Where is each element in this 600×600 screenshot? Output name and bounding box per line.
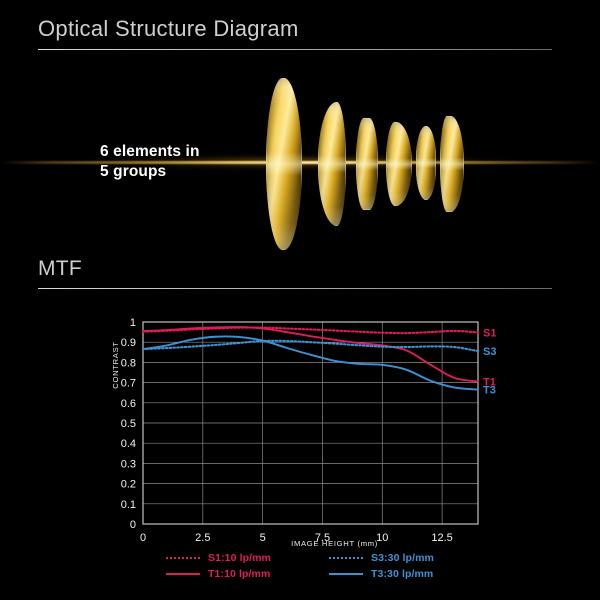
- legend-column-10lpmm: S1:10 lp/mm T1:10 lp/mm: [166, 552, 271, 580]
- y-tick-label: 0.8: [121, 357, 136, 369]
- legend-column-30lpmm: S3:30 lp/mm T3:30 lp/mm: [329, 552, 434, 580]
- curve-end-label-s3: S3: [483, 346, 496, 358]
- page-root: Optical Structure Diagram 6 elements in …: [0, 0, 600, 600]
- y-tick-label: 0.4: [121, 438, 136, 450]
- legend-item-t1: T1:10 lp/mm: [166, 568, 271, 580]
- lens-element-2: [318, 102, 346, 226]
- mtf-divider: [38, 288, 552, 289]
- legend-item-t3: T3:30 lp/mm: [329, 568, 434, 580]
- page-title: Optical Structure Diagram: [38, 18, 552, 40]
- legend-item-s3: S3:30 lp/mm: [329, 552, 434, 564]
- legend-label-t1: T1:10 lp/mm: [208, 568, 270, 580]
- y-tick-label: 0.3: [121, 458, 136, 470]
- curve-end-label-t3: T3: [483, 385, 496, 397]
- y-axis-ticks: 00.10.20.30.40.50.60.70.80.91: [121, 317, 136, 531]
- legend-swatch-s3-icon: [329, 557, 363, 559]
- mtf-plot-svg: 00.10.20.30.40.50.60.70.80.91 02.557.510…: [0, 300, 600, 550]
- curve-end-labels: S1T1S3T3: [483, 328, 496, 397]
- legend-item-s1: S1:10 lp/mm: [166, 552, 271, 564]
- lens-diagram: 6 elements in 5 groups: [0, 66, 600, 256]
- legend-swatch-t1-icon: [166, 573, 200, 575]
- legend-label-s1: S1:10 lp/mm: [208, 552, 271, 564]
- mtf-section-header: MTF: [38, 258, 552, 289]
- title-divider: [38, 49, 552, 50]
- legend-swatch-t3-icon: [329, 573, 363, 575]
- y-tick-label: 0.5: [121, 418, 136, 430]
- y-tick-label: 0.7: [121, 378, 136, 390]
- lens-element-3: [356, 118, 378, 210]
- mtf-title: MTF: [38, 258, 552, 279]
- x-tick-label: 0: [140, 532, 146, 544]
- lens-element-1: [266, 78, 302, 250]
- mtf-curves: [143, 327, 478, 390]
- y-tick-label: 0.9: [121, 337, 136, 349]
- chart-legend: S1:10 lp/mm T1:10 lp/mm S3:30 lp/mm T3:3…: [0, 552, 600, 580]
- y-tick-label: 0.2: [121, 479, 136, 491]
- legend-label-t3: T3:30 lp/mm: [371, 568, 433, 580]
- lens-element-4: [386, 122, 412, 206]
- x-axis-label: IMAGE HEIGHT (mm): [291, 539, 378, 548]
- y-tick-label: 1: [130, 317, 136, 329]
- lens-element-6: [440, 116, 464, 212]
- y-axis-label: CONTRAST: [111, 341, 120, 388]
- lens-element-5: [416, 126, 436, 200]
- legend-label-s3: S3:30 lp/mm: [371, 552, 434, 564]
- curve-end-label-s1: S1: [483, 328, 496, 340]
- legend-swatch-s1-icon: [166, 557, 200, 559]
- y-tick-label: 0: [130, 519, 136, 531]
- x-tick-label: 2.5: [195, 532, 210, 544]
- optical-section-header: Optical Structure Diagram: [38, 18, 552, 50]
- elements-groups-label: 6 elements in 5 groups: [100, 142, 200, 182]
- x-tick-label: 5: [260, 532, 266, 544]
- y-tick-label: 0.1: [121, 499, 136, 511]
- y-tick-label: 0.6: [121, 398, 136, 410]
- grid-horizontal: [143, 322, 478, 504]
- x-tick-label: 12.5: [431, 532, 452, 544]
